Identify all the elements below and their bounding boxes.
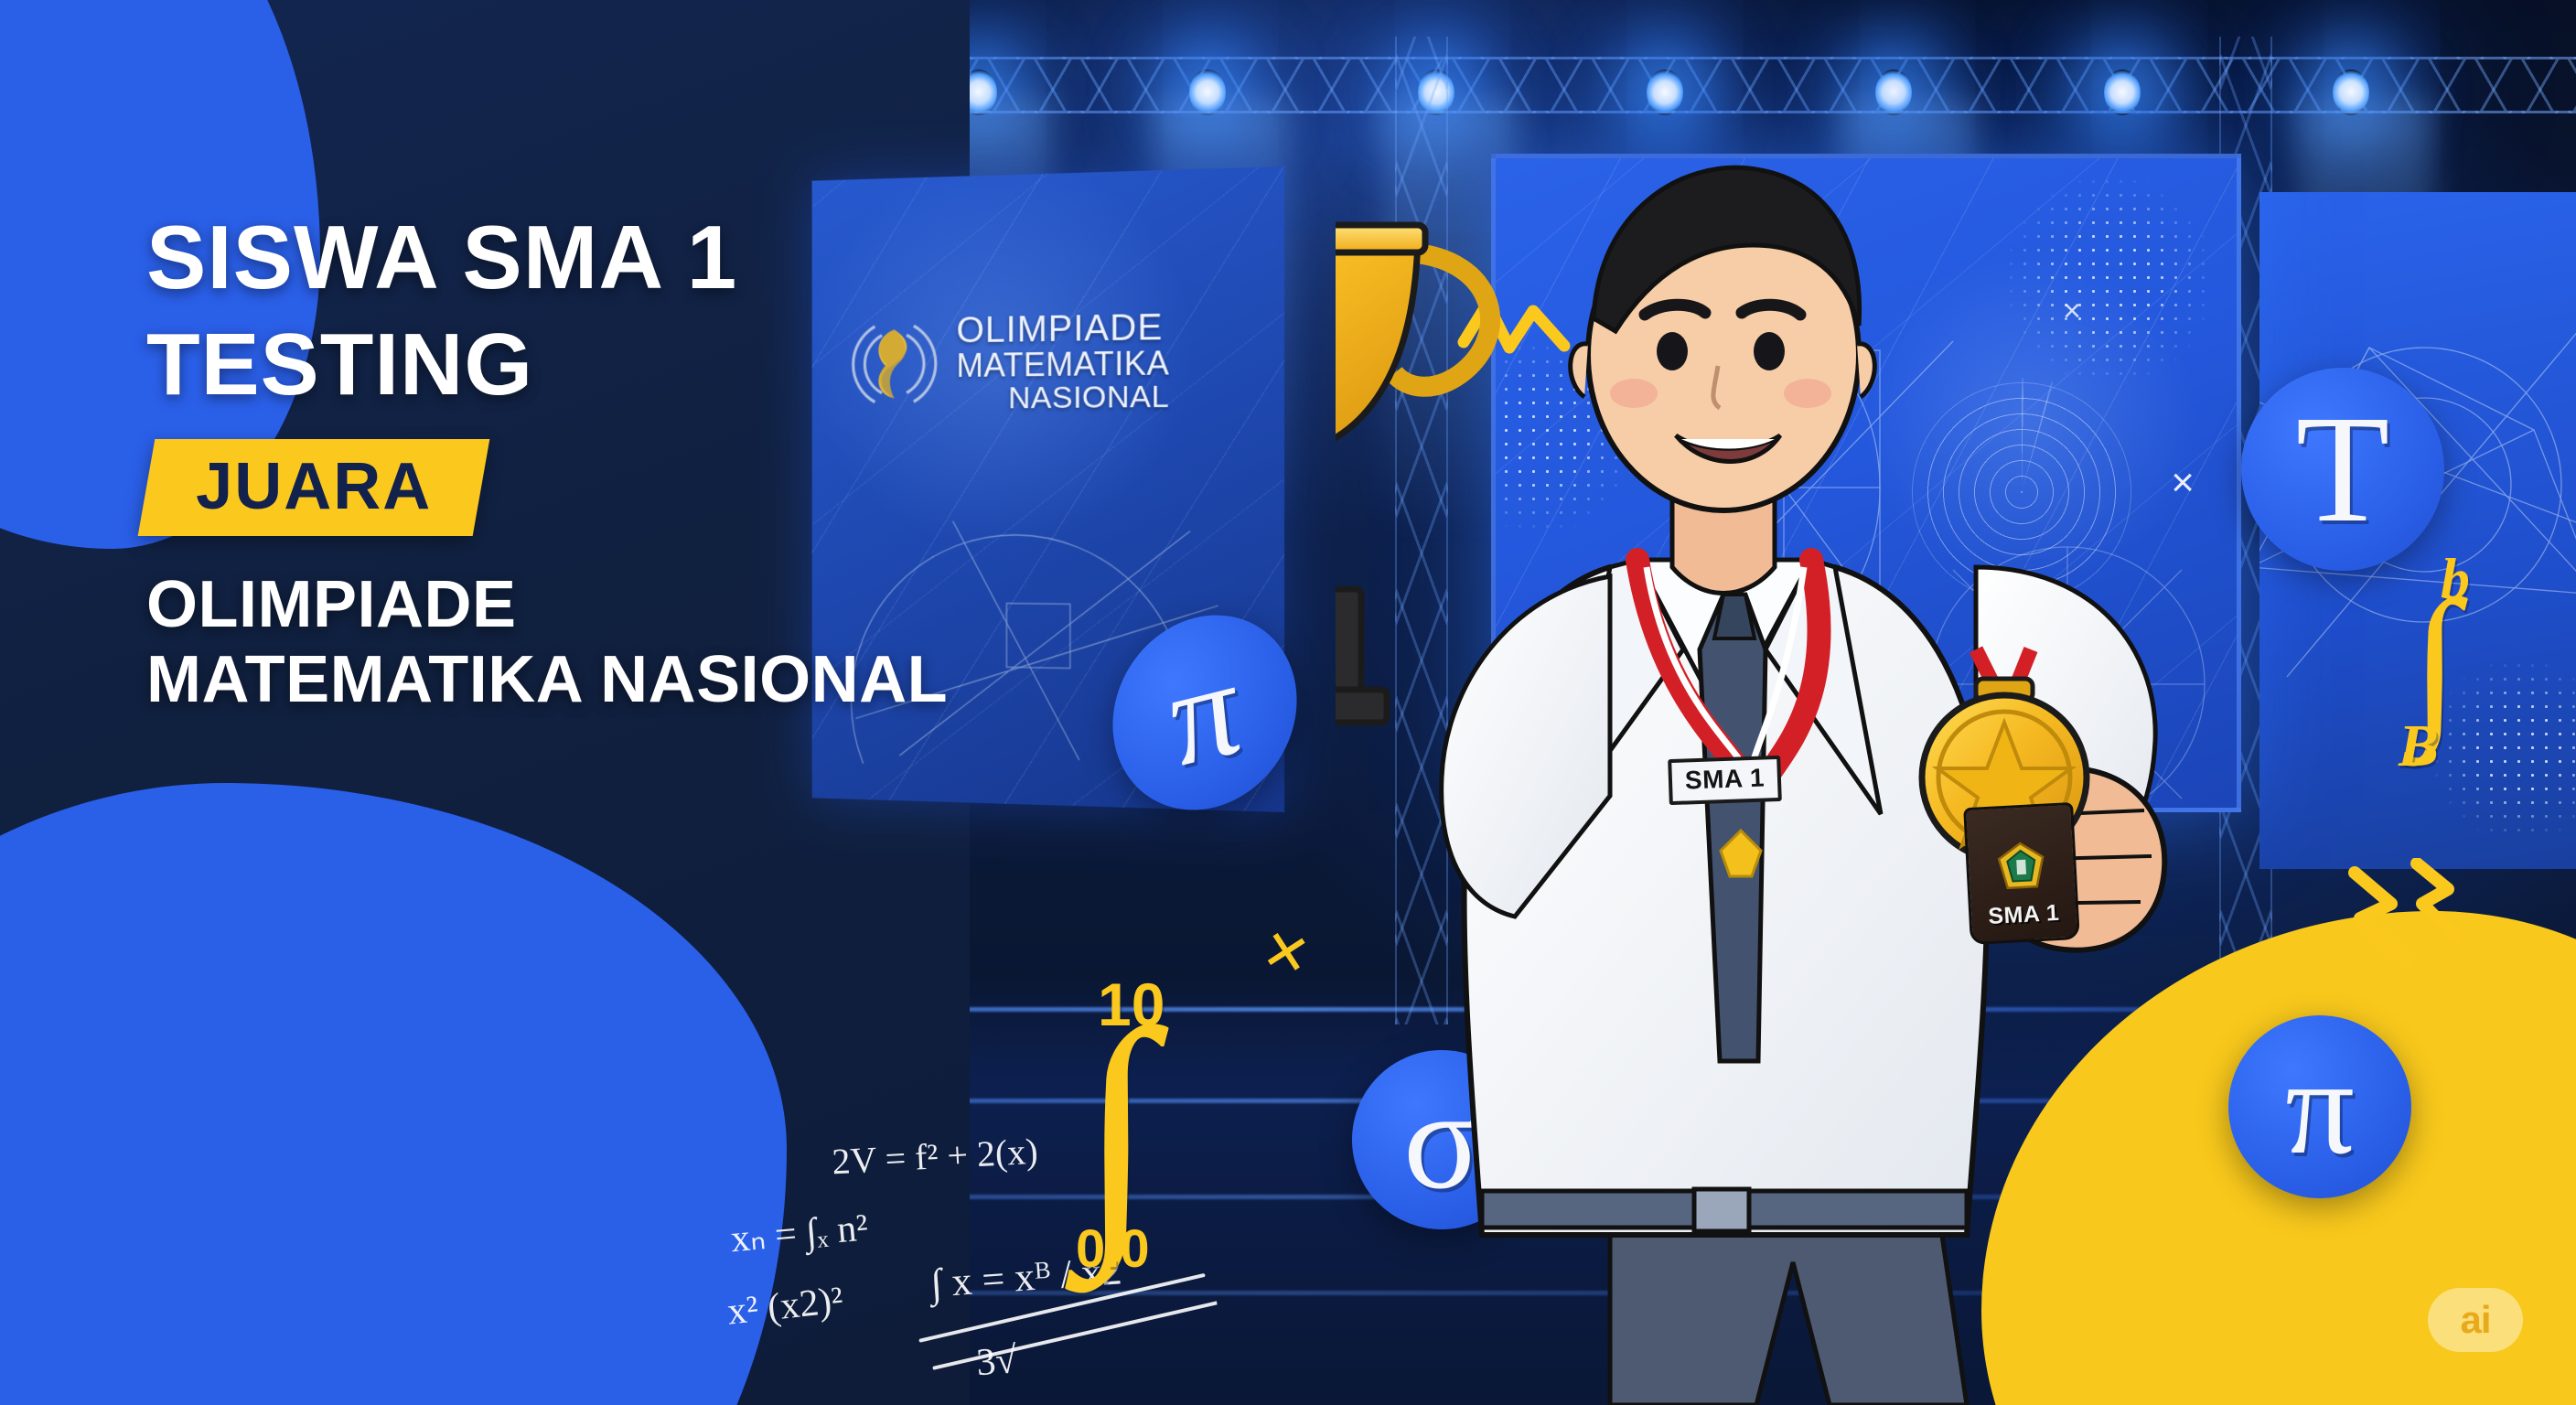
- headline-line4b: MATEMATIKA NASIONAL: [146, 642, 1125, 717]
- student-character: [1336, 137, 2250, 1405]
- math-glyph: π: [1163, 625, 1247, 799]
- left-ear: [1571, 344, 1588, 397]
- school-patch: SMA 1: [1963, 802, 2080, 945]
- small-integral-group: b ∫ B: [2411, 545, 2459, 821]
- ai-watermark-label: ai: [2460, 1298, 2490, 1342]
- juara-badge-label: JUARA: [196, 454, 432, 520]
- headline-line4a: OLIMPIADE: [146, 567, 1125, 642]
- integral-lower-limit: B: [2395, 712, 2442, 781]
- trophy-base: [1336, 589, 1361, 692]
- integral-lower-limit: 0.0: [1076, 1218, 1151, 1280]
- belt-buckle: [1694, 1189, 1749, 1231]
- name-tag: SMA 1: [1668, 756, 1782, 805]
- stage-lamp: [2104, 70, 2141, 115]
- trophy-cup: [1336, 238, 1418, 457]
- integral-symbol: ∫: [1079, 1017, 1154, 1237]
- math-glyph: π: [2285, 1028, 2355, 1185]
- headline-line4: OLIMPIADE MATEMATIKA NASIONAL: [146, 567, 1125, 717]
- math-symbol-tau: T: [2241, 368, 2444, 571]
- trophy-rim: [1336, 225, 1425, 252]
- math-glyph: T: [2296, 381, 2390, 558]
- right-eye: [1754, 332, 1785, 370]
- big-integral-group: 10 ∫ 0.0: [1127, 970, 1202, 1320]
- right-blush: [1784, 379, 1831, 408]
- gold-trophy: [1336, 225, 1490, 723]
- school-emblem-icon: [1991, 838, 2051, 897]
- trophy-base-foot: [1336, 690, 1387, 723]
- headline-block: SISWA SMA 1 TESTING JUARA OLIMPIADE MATE…: [146, 210, 1125, 717]
- tie-knot: [1714, 595, 1755, 638]
- trousers: [1610, 1217, 1967, 1405]
- juara-badge: JUARA: [138, 439, 490, 536]
- right-ear: [1857, 344, 1874, 397]
- lighting-truss: [924, 0, 2576, 156]
- left-eye: [1657, 332, 1688, 370]
- headline-line1: SISWA SMA 1: [146, 210, 1125, 306]
- poster-canvas: × ×: [0, 0, 2576, 1405]
- stage-lamp: [1647, 70, 1683, 115]
- left-blush: [1610, 379, 1658, 408]
- name-tag-label: SMA 1: [1684, 763, 1765, 794]
- decorative-blob-bottom: [0, 783, 787, 1405]
- math-symbol-pi: π: [2228, 1015, 2411, 1198]
- ai-watermark: ai: [2428, 1288, 2523, 1352]
- headline-line2: TESTING: [146, 318, 1125, 412]
- school-patch-label: SMA 1: [1988, 900, 2060, 930]
- zigzag-accent-icon: [2338, 858, 2466, 977]
